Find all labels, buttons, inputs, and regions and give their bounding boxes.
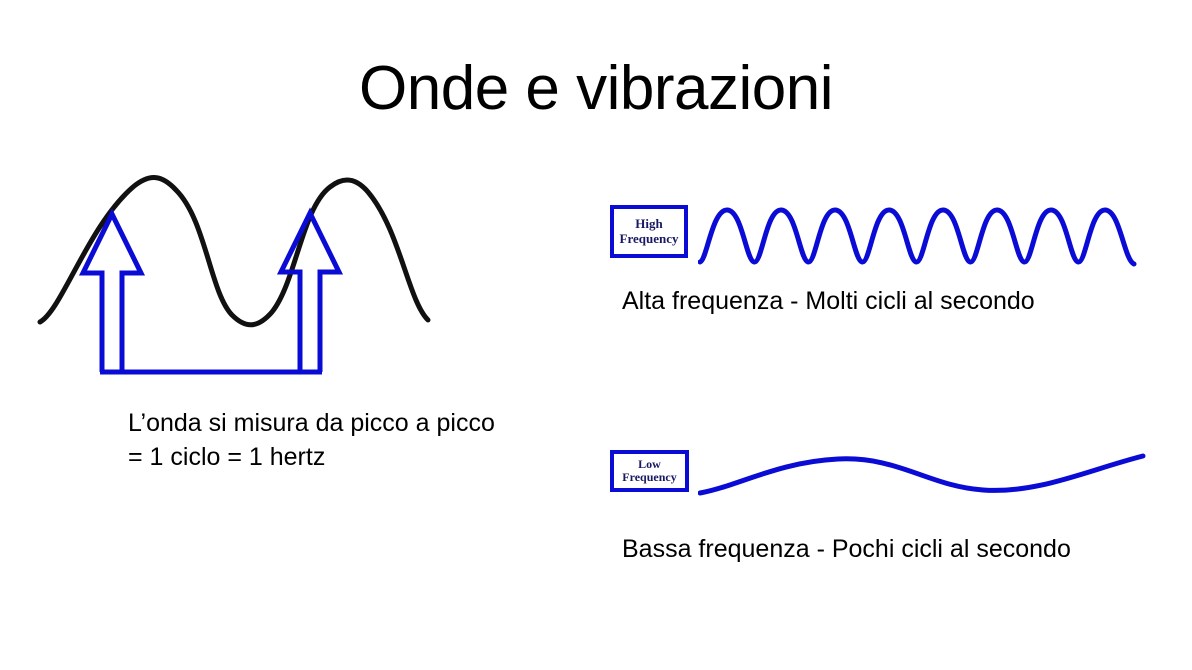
low-frequency-label-line-1: Low xyxy=(638,458,661,471)
low-frequency-caption: Bassa frequenza - Pochi cicli al secondo xyxy=(622,533,1071,566)
low-frequency-row: Low Frequency xyxy=(600,440,1160,510)
low-frequency-label-box: Low Frequency xyxy=(610,450,689,492)
page-title: Onde e vibrazioni xyxy=(0,56,1192,121)
peak-caption-line-1: L’onda si misura da picco a picco xyxy=(128,406,598,440)
high-frequency-label-box: High Frequency xyxy=(610,205,688,258)
low-frequency-wave-path xyxy=(700,456,1143,493)
peak-to-peak-caption: L’onda si misura da picco a picco = 1 ci… xyxy=(128,406,598,474)
low-frequency-label-line-2: Frequency xyxy=(622,471,676,484)
right-arrow-outline xyxy=(281,213,339,372)
peak-to-peak-wave-svg xyxy=(10,160,530,400)
low-frequency-wave-svg xyxy=(698,440,1153,510)
high-frequency-wave-path xyxy=(700,210,1134,264)
high-frequency-label-line-1: High xyxy=(635,217,662,232)
blue-measure-bracket xyxy=(83,213,339,372)
high-frequency-wave-svg xyxy=(698,196,1148,272)
peak-caption-line-2: = 1 ciclo = 1 hertz xyxy=(128,440,598,474)
high-frequency-row: High Frequency xyxy=(600,196,1160,272)
high-frequency-label-line-2: Frequency xyxy=(620,232,679,247)
black-wave-path xyxy=(40,178,428,325)
peak-to-peak-diagram xyxy=(10,160,530,400)
high-frequency-caption: Alta frequenza - Molti cicli al secondo xyxy=(622,285,1035,318)
